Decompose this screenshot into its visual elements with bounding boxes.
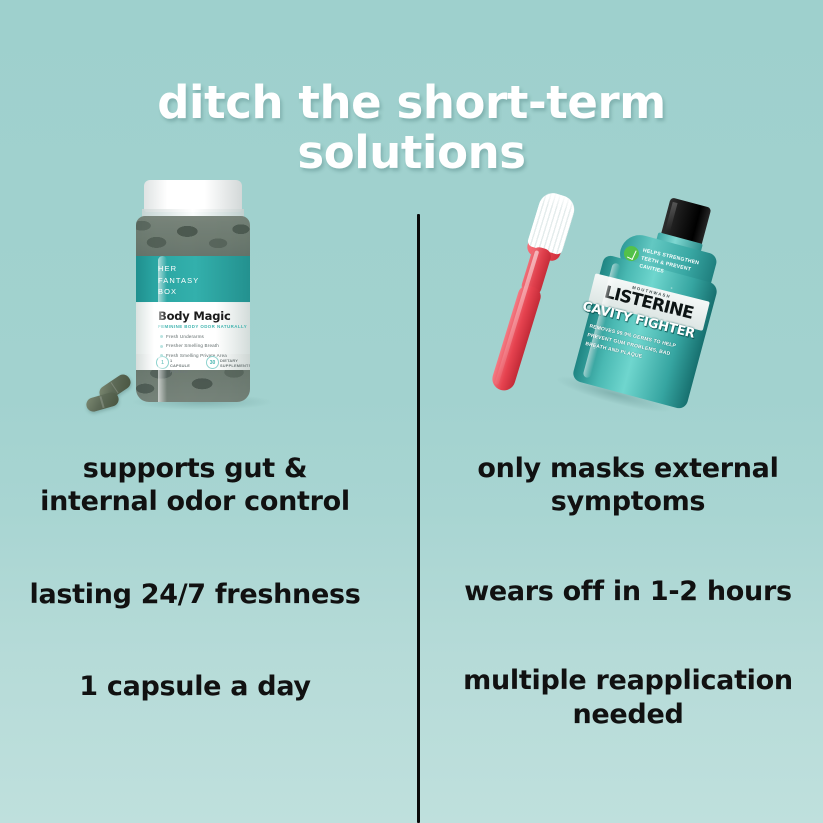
badge-caption: DIETARY SUPPLEMENTS [220, 358, 250, 370]
headline-line-1: ditch the short-term [0, 78, 823, 128]
benefit-item: Fresher Smelling Breath [160, 341, 227, 350]
pills-visible-top [136, 216, 250, 260]
bottle-label: Body Magic FEMININE BODY ODOR NATURALLY … [136, 302, 250, 370]
supplement-bottle-image: HER FANTASY BOX Body Magic FEMININE BODY… [118, 180, 293, 425]
benefit-point-1: supports gut & internal odor control [0, 452, 390, 519]
bottle-body: HER FANTASY BOX Body Magic FEMININE BODY… [136, 216, 250, 402]
checkmark-icon [622, 245, 640, 263]
page-title: ditch the short-term solutions [0, 78, 823, 179]
drawback-point-1: only masks external symptoms [433, 452, 823, 519]
benefit-item: Fresh Underarms [160, 332, 227, 341]
count-icon: 30 [206, 356, 219, 369]
left-benefits-column: supports gut & internal odor control las… [0, 452, 390, 704]
drawback-point-3: multiple reapplication needed [433, 664, 823, 731]
drawback-point-2: wears off in 1-2 hours [433, 575, 823, 608]
label-badges: 1 1 CAPSULE PER DAY 30 DIETARY SUPPLEMEN… [156, 356, 244, 368]
product-tagline: FEMININE BODY ODOR NATURALLY [158, 324, 247, 329]
benefit-point-2: lasting 24/7 freshness [0, 578, 390, 611]
headline-line-2: solutions [0, 128, 823, 178]
bottle-brand-band: HER FANTASY BOX [136, 256, 250, 303]
bottle-highlight [158, 256, 167, 402]
capsule-icon [85, 391, 121, 414]
right-drawbacks-column: only masks external symptoms wears off i… [433, 452, 823, 731]
column-divider [417, 214, 420, 823]
comparison-graphic: ditch the short-term solutions HER FANTA… [0, 0, 823, 823]
benefit-point-3: 1 capsule a day [0, 670, 390, 703]
product-name: Body Magic [158, 309, 231, 323]
loose-capsules [84, 378, 146, 418]
brush-bristles [526, 190, 577, 256]
bottle-cap [144, 180, 242, 212]
mouthwash-image: HELPS STRENGTHEN TEETH & PREVENT CAVITIE… [520, 196, 735, 426]
badge-caption: 1 CAPSULE PER DAY [170, 358, 190, 376]
